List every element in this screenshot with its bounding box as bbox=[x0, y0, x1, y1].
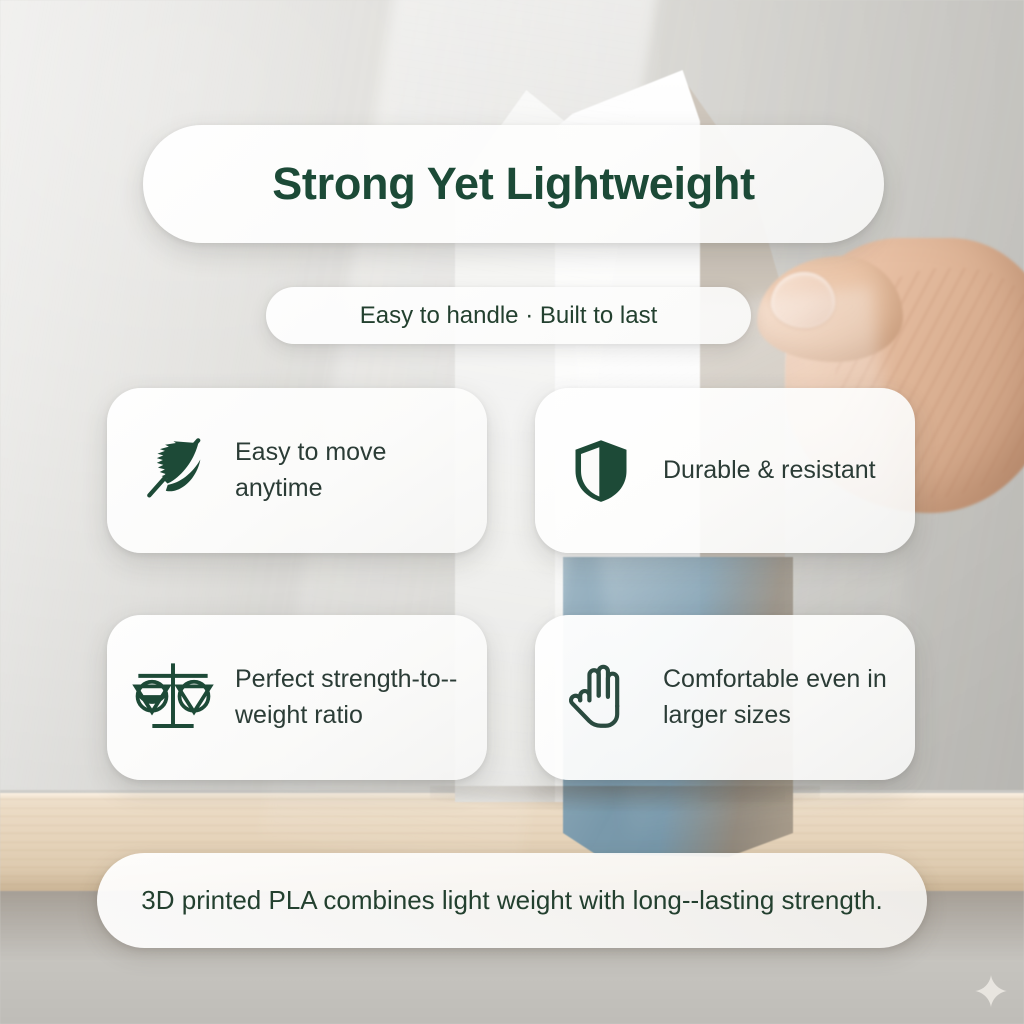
footer-banner: 3D printed PLA combines light weight wit… bbox=[97, 853, 927, 948]
feature-card-durable[interactable]: Durable & resistant bbox=[535, 388, 915, 553]
title-banner: Strong Yet Lightweight bbox=[143, 125, 884, 243]
feather-icon bbox=[131, 429, 215, 513]
sparkle-icon bbox=[974, 974, 1008, 1008]
poster-canvas: Strong Yet Lightweight Easy to handle · … bbox=[0, 0, 1024, 1024]
feature-card-label: Comfortable even in larger sizes bbox=[663, 662, 893, 733]
thumbnail bbox=[771, 272, 835, 328]
subtitle-banner: Easy to handle · Built to last bbox=[266, 287, 751, 344]
feature-card-comfortable[interactable]: Comfortable even in larger sizes bbox=[535, 615, 915, 780]
feature-card-label: Perfect strength-to--weight ratio bbox=[235, 662, 465, 733]
page-title: Strong Yet Lightweight bbox=[272, 158, 755, 210]
hand-icon bbox=[559, 656, 643, 740]
footer-text: 3D printed PLA combines light weight wit… bbox=[105, 882, 918, 919]
page-subtitle: Easy to handle · Built to last bbox=[360, 302, 658, 330]
object-contact-shadow bbox=[430, 786, 820, 812]
feature-card-label: Durable & resistant bbox=[663, 453, 876, 489]
feature-card-easy-to-move[interactable]: Easy to move anytime bbox=[107, 388, 487, 553]
feature-card-strength-to-weight[interactable]: Perfect strength-to--weight ratio bbox=[107, 615, 487, 780]
shield-icon bbox=[559, 429, 643, 513]
scales-icon bbox=[131, 656, 215, 740]
feature-card-label: Easy to move anytime bbox=[235, 435, 465, 506]
